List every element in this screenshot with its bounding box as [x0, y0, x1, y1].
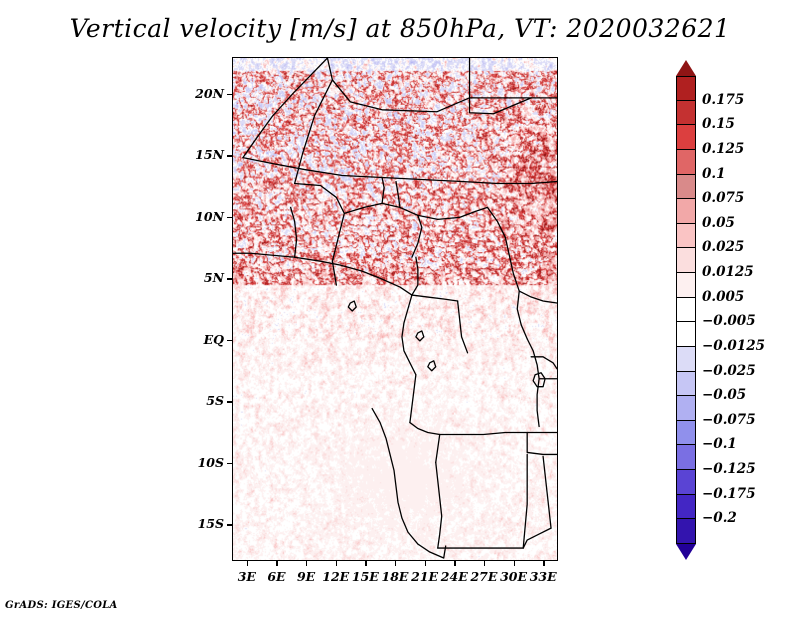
colorbar-label-4: 0.075: [702, 190, 744, 206]
colorbar-band-14[interactable]: [676, 396, 696, 421]
colorbar-label-6: 0.025: [702, 239, 744, 255]
lon-tickmark: [306, 561, 307, 566]
lat-tickmark: [227, 94, 232, 95]
colorbar-band-13[interactable]: [676, 372, 696, 397]
colorbar-band-17[interactable]: [676, 470, 696, 495]
lat-tickmark: [227, 340, 232, 341]
lat-tick-eq: EQ: [164, 332, 224, 347]
map-plot-area[interactable]: [232, 57, 558, 561]
lat-tick-5s: 5S: [164, 393, 224, 408]
colorbar-label-1: 0.15: [702, 116, 735, 132]
lat-tickmark: [227, 401, 232, 402]
colorbar-label-3: 0.1: [702, 166, 726, 182]
colorbar-band-18[interactable]: [676, 495, 696, 520]
colorbar-label-8: 0.005: [702, 289, 744, 305]
lon-tickmark: [365, 561, 366, 566]
lat-tick-15s: 15S: [164, 516, 224, 531]
lon-tickmark: [425, 561, 426, 566]
lat-tick-5n: 5N: [164, 270, 224, 285]
colorbar-band-11[interactable]: [676, 322, 696, 347]
lon-tickmark: [336, 561, 337, 566]
colorbar-label-0: 0.175: [702, 92, 744, 108]
colorbar-label-2: 0.125: [702, 141, 744, 157]
lat-tickmark: [227, 155, 232, 156]
colorbar-band-10[interactable]: [676, 298, 696, 323]
colorbar[interactable]: [676, 60, 696, 560]
lon-tickmark: [543, 561, 544, 566]
lat-tick-20n: 20N: [164, 86, 224, 101]
lat-tickmark: [227, 463, 232, 464]
colorbar-band-4[interactable]: [676, 150, 696, 175]
colorbar-label-10: −0.0125: [702, 338, 765, 354]
lat-tick-10s: 10S: [164, 455, 224, 470]
lat-tickmark: [227, 278, 232, 279]
lon-tickmark: [395, 561, 396, 566]
colorbar-band-5[interactable]: [676, 175, 696, 200]
colorbar-band-12[interactable]: [676, 347, 696, 372]
grads-attribution: GrADS: IGES/COLA: [5, 600, 118, 611]
colorbar-label-14: −0.1: [702, 436, 737, 452]
lat-tickmark: [227, 217, 232, 218]
colorbar-label-15: −0.125: [702, 461, 756, 477]
colorbar-band-16[interactable]: [676, 445, 696, 470]
colorbar-label-17: −0.2: [702, 510, 737, 526]
colorbar-label-7: 0.0125: [702, 264, 754, 280]
colorbar-band-15[interactable]: [676, 421, 696, 446]
lon-tickmark: [276, 561, 277, 566]
colorbar-label-13: −0.075: [702, 412, 756, 428]
colorbar-band-1[interactable]: [676, 76, 696, 101]
lon-tickmark: [514, 561, 515, 566]
colorbar-label-11: −0.025: [702, 363, 756, 379]
colorbar-label-12: −0.05: [702, 387, 746, 403]
colorbar-label-5: 0.05: [702, 215, 735, 231]
lat-tick-10n: 10N: [164, 209, 224, 224]
colorbar-label-9: −0.005: [702, 313, 756, 329]
colorbar-band-9[interactable]: [676, 273, 696, 298]
country-borders-overlay: [233, 58, 557, 560]
colorbar-arrow-bottom: [676, 544, 696, 560]
colorbar-band-8[interactable]: [676, 248, 696, 273]
colorbar-band-7[interactable]: [676, 224, 696, 249]
colorbar-label-16: −0.175: [702, 486, 756, 502]
lon-tick-33e: 33E: [521, 569, 565, 584]
lat-tickmark: [227, 524, 232, 525]
colorbar-arrow-top: [676, 60, 696, 76]
colorbar-band-3[interactable]: [676, 125, 696, 150]
lon-tickmark: [247, 561, 248, 566]
lon-tickmark: [454, 561, 455, 566]
page-title: Vertical velocity [m/s] at 850hPa, VT: 2…: [0, 14, 800, 43]
colorbar-band-2[interactable]: [676, 101, 696, 126]
colorbar-band-19[interactable]: [676, 519, 696, 544]
lat-tick-15n: 15N: [164, 147, 224, 162]
lon-tickmark: [484, 561, 485, 566]
colorbar-band-6[interactable]: [676, 199, 696, 224]
